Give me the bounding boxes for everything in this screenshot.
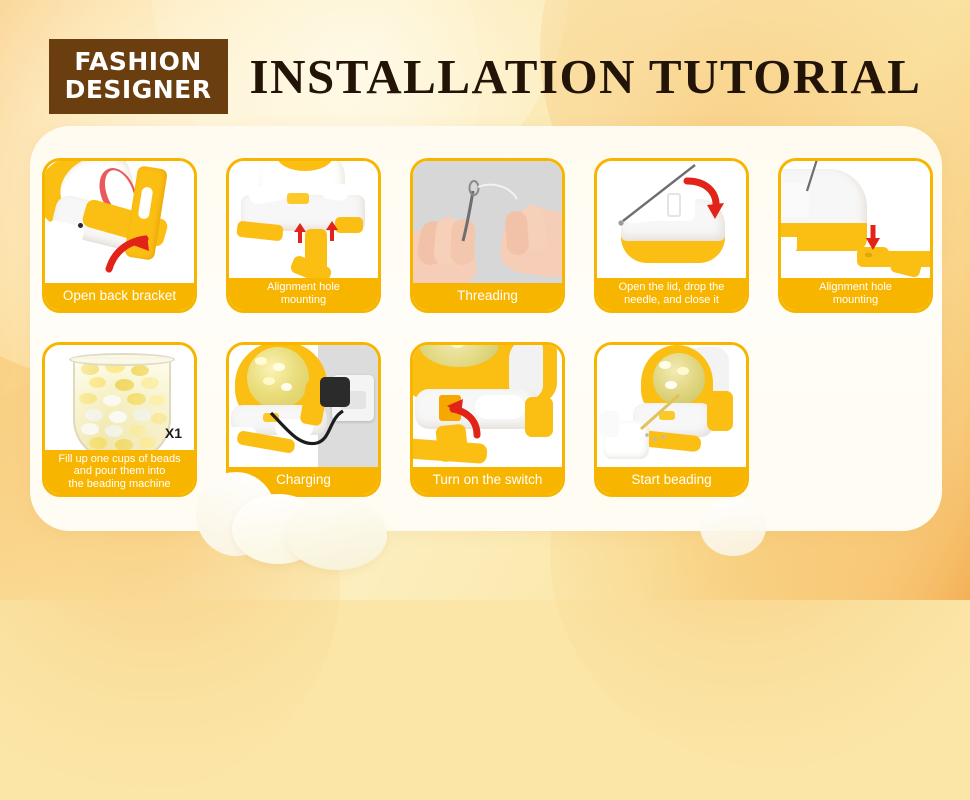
- step-caption-3: Threading: [413, 283, 562, 310]
- step-card-2[interactable]: Alignment hole mounting: [226, 158, 381, 313]
- step-image-2: [229, 161, 378, 278]
- step-card-9[interactable]: Start beading: [594, 342, 749, 497]
- step-image-9: [597, 345, 746, 467]
- charging-cable: [269, 399, 359, 455]
- step-caption-1: Open back bracket: [45, 283, 194, 310]
- page-title: INSTALLATION TUTORIAL: [250, 48, 922, 105]
- step-caption-2: Alignment hole mounting: [229, 278, 378, 310]
- arrow-icon-step-4: [683, 175, 727, 223]
- step-caption-6: Fill up one cups of beads and pour them …: [45, 450, 194, 494]
- step-image-4: [597, 161, 746, 278]
- tutorial-panel: Open back bracket: [30, 126, 942, 531]
- arrow-icon-step-2-left: [293, 223, 307, 245]
- step-card-4[interactable]: Open the lid, drop the needle, and close…: [594, 158, 749, 313]
- step-quantity-badge-6: X1: [165, 425, 182, 441]
- arrow-icon-step-5: [865, 225, 881, 251]
- arrow-icon-step-1: [105, 233, 151, 273]
- step-caption-8: Turn on the switch: [413, 467, 562, 494]
- step-image-7: [229, 345, 378, 467]
- step-caption-5: Alignment hole mounting: [781, 278, 930, 310]
- step-image-3: [413, 161, 562, 283]
- bead-cup: [73, 357, 171, 450]
- needle-and-thread-graphic: [451, 179, 531, 269]
- brand-badge: FASHION DESIGNER: [49, 39, 228, 114]
- step-caption-9: Start beading: [597, 467, 746, 494]
- step-image-6: X1: [45, 345, 194, 450]
- brand-badge-line1: FASHION: [65, 48, 212, 76]
- arrow-icon-step-8: [441, 391, 489, 439]
- step-image-8: [413, 345, 562, 467]
- step-card-5[interactable]: Alignment hole mounting: [778, 158, 933, 313]
- step-image-5: [781, 161, 930, 278]
- arrow-icon-step-2-right: [325, 221, 339, 243]
- brand-badge-line2: DESIGNER: [65, 76, 212, 104]
- step-card-3[interactable]: Threading: [410, 158, 565, 313]
- steps-grid: Open back bracket: [30, 126, 942, 531]
- needle-graphic-step-5: [795, 161, 835, 201]
- bead-thread-output: [621, 389, 701, 449]
- step-card-6[interactable]: X1 Fill up one cups of beads and pour th…: [42, 342, 197, 497]
- decorative-blob-4: [700, 498, 766, 556]
- step-caption-4: Open the lid, drop the needle, and close…: [597, 278, 746, 310]
- step-image-1: [45, 161, 194, 283]
- decorative-blob-2: [287, 502, 387, 570]
- header: FASHION DESIGNER INSTALLATION TUTORIAL: [0, 38, 970, 114]
- step-card-1[interactable]: Open back bracket: [42, 158, 197, 313]
- step-card-8[interactable]: Turn on the switch: [410, 342, 565, 497]
